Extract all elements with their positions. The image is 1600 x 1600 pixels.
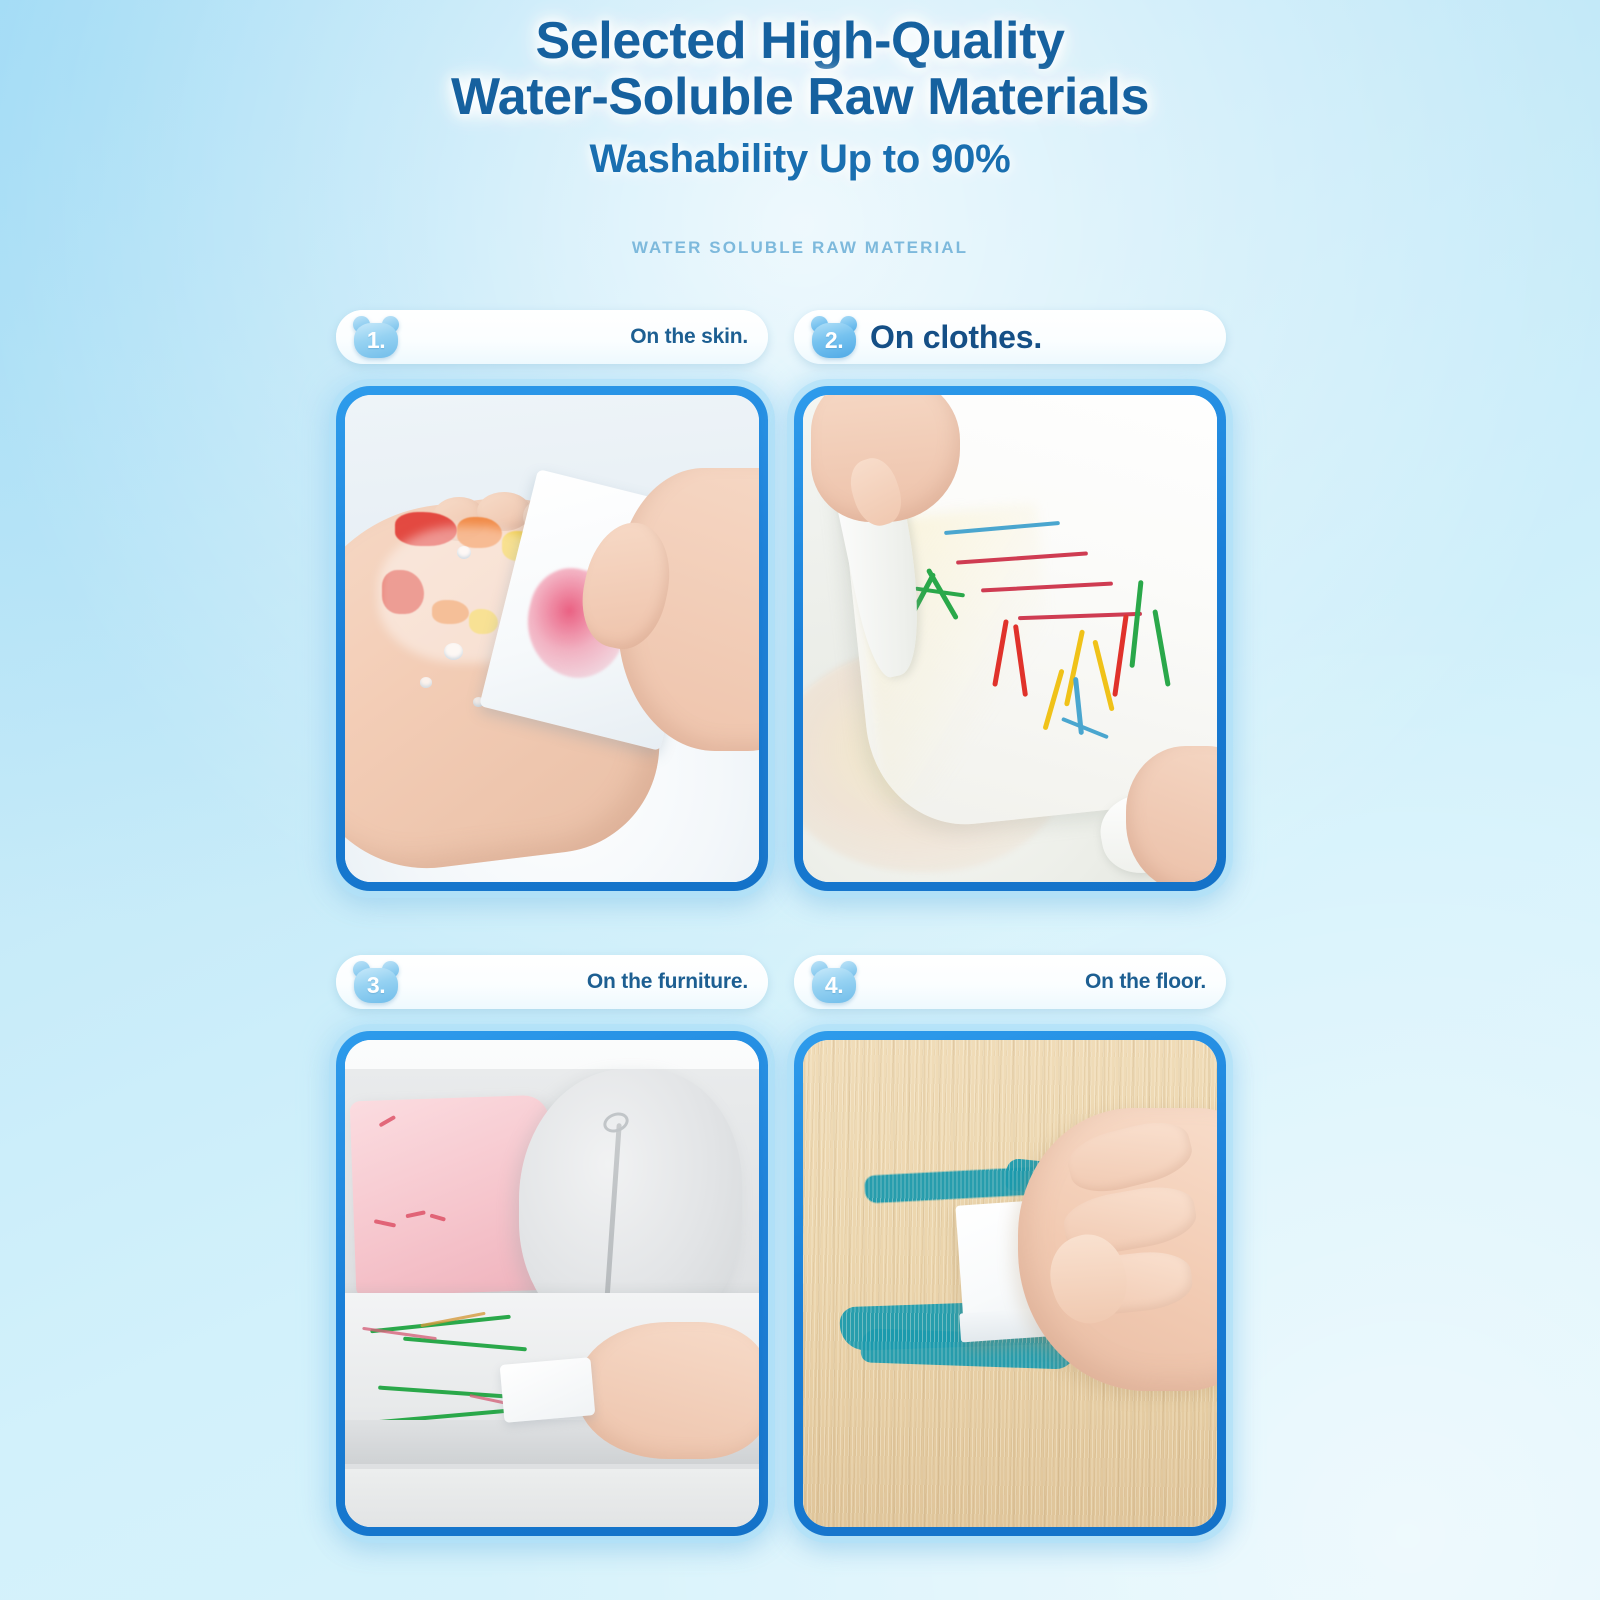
pillow-mark <box>429 1214 445 1222</box>
photo-1-skin <box>345 395 759 882</box>
bear-badge-icon: 4. <box>810 961 858 1003</box>
bear-face-icon: 1. <box>354 323 398 358</box>
grid-row-2: 3. On the furniture. <box>336 955 1226 1536</box>
use-case-item-4: 4. On the floor. <box>794 955 1226 1536</box>
pillow-mark <box>379 1116 396 1128</box>
photo-card-3[interactable] <box>336 1031 768 1536</box>
wiping-hand <box>577 1322 759 1458</box>
use-case-label-4: On the floor. <box>1085 970 1206 994</box>
badge-number-2: 2. <box>825 329 843 352</box>
bear-badge-icon: 3. <box>352 961 400 1003</box>
badge-number-4: 4. <box>825 974 843 997</box>
scene-skin <box>345 395 759 882</box>
photo-card-2[interactable] <box>794 386 1226 891</box>
badge-number-3: 3. <box>367 974 385 997</box>
label-pill-1[interactable]: 1. On the skin. <box>336 310 768 364</box>
use-case-label-2: On clothes. <box>870 319 1042 356</box>
scene-floor <box>803 1040 1217 1527</box>
use-case-item-1: 1. On the skin. <box>336 310 768 891</box>
bear-face-icon: 4. <box>812 968 856 1003</box>
promo-page: Selected High-Quality Water-Soluble Raw … <box>0 0 1600 1600</box>
grid-row-1: 1. On the skin. <box>336 310 1226 891</box>
photo-card-4[interactable] <box>794 1031 1226 1536</box>
white-wipe-cloth <box>500 1358 596 1424</box>
title-line-2: Water-Soluble Raw Materials <box>0 70 1600 126</box>
badge-number-1: 1. <box>367 329 385 352</box>
bear-face-icon: 3. <box>354 968 398 1003</box>
pillow-mark <box>405 1211 425 1219</box>
scene-furniture <box>345 1040 759 1527</box>
water-droplet <box>420 677 432 688</box>
use-case-item-3: 3. On the furniture. <box>336 955 768 1536</box>
heading-block: Selected High-Quality Water-Soluble Raw … <box>0 14 1600 182</box>
label-pill-3[interactable]: 3. On the furniture. <box>336 955 768 1009</box>
photo-3-furniture <box>345 1040 759 1527</box>
eyebrow-caption: WATER SOLUBLE RAW MATERIAL <box>0 238 1600 258</box>
label-pill-4[interactable]: 4. On the floor. <box>794 955 1226 1009</box>
use-case-label-1: On the skin. <box>630 325 748 349</box>
photo-2-clothes <box>803 395 1217 882</box>
bear-badge-icon: 1. <box>352 316 400 358</box>
pillow-mark <box>374 1219 396 1227</box>
use-case-item-2: 2. On clothes. <box>794 310 1226 891</box>
use-case-label-3: On the furniture. <box>587 970 748 994</box>
floor-strip <box>345 1469 759 1527</box>
photo-4-floor <box>803 1040 1217 1527</box>
photo-card-1[interactable] <box>336 386 768 891</box>
label-pill-2[interactable]: 2. On clothes. <box>794 310 1226 364</box>
use-case-grid: 1. On the skin. <box>336 310 1226 1536</box>
water-droplet <box>457 546 471 559</box>
title-line-1: Selected High-Quality <box>535 12 1064 70</box>
page-subtitle: Washability Up to 90% <box>0 137 1600 182</box>
page-title: Selected High-Quality Water-Soluble Raw … <box>0 14 1600 125</box>
scene-clothes <box>803 395 1217 882</box>
bear-face-icon: 2. <box>812 323 856 358</box>
bear-badge-icon: 2. <box>810 316 858 358</box>
